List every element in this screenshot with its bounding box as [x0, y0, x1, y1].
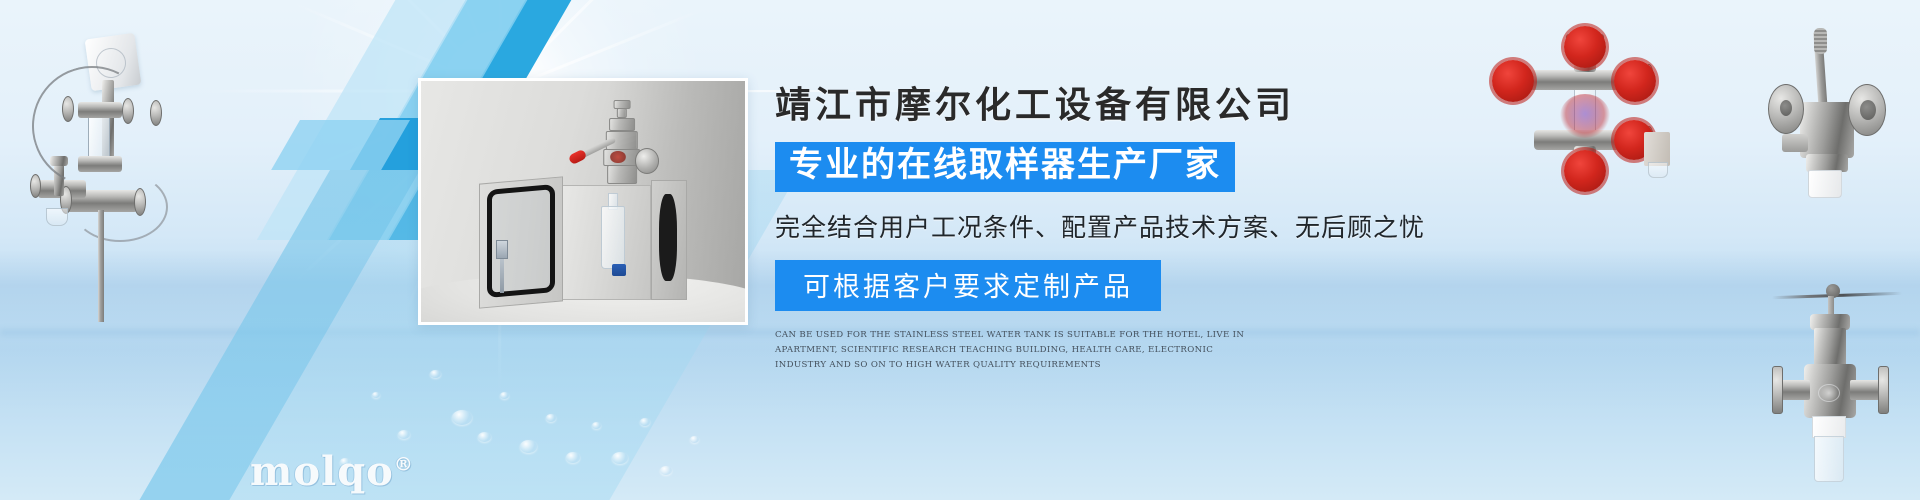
cta-badge[interactable]: 可根据客户要求定制产品	[775, 260, 1161, 311]
company-name: 靖江市摩尔化工设备有限公司	[775, 76, 1415, 128]
sample-bottle	[601, 206, 625, 269]
sub-headline: 完全结合用户工况条件、配置产品技术方案、无后顾之忧	[775, 208, 1415, 244]
water-droplet	[612, 452, 628, 464]
water-droplet	[398, 430, 410, 439]
photo-valve-assembly	[589, 100, 654, 187]
water-droplet	[478, 432, 491, 442]
water-droplet	[566, 452, 580, 463]
water-droplet	[690, 436, 699, 443]
promo-banner: 靖江市摩尔化工设备有限公司 专业的在线取样器生产厂家 完全结合用户工况条件、配置…	[0, 0, 1920, 500]
watermark-text: molqo	[250, 448, 394, 495]
brand-watermark: molqo®	[250, 448, 414, 495]
valve-handwheel-icon	[1564, 150, 1606, 192]
water-droplet	[660, 466, 672, 475]
center-product-photo	[418, 78, 748, 325]
valve-handwheel-icon	[1614, 120, 1654, 160]
valve-handwheel-icon	[1564, 26, 1606, 68]
water-droplet	[640, 418, 650, 426]
cabinet-key-icon	[500, 259, 504, 293]
right-top-product-image	[1486, 32, 1686, 182]
water-droplet	[546, 414, 556, 422]
right-upper-product-image	[1760, 26, 1910, 226]
valve-handwheel-icon	[1492, 60, 1534, 102]
water-droplet	[452, 410, 472, 425]
banner-text-block: 靖江市摩尔化工设备有限公司 专业的在线取样器生产厂家 完全结合用户工况条件、配置…	[775, 76, 1415, 373]
english-description: CAN BE USED FOR THE STAINLESS STEEL WATE…	[775, 328, 1245, 373]
registered-trademark-icon: ®	[394, 454, 414, 476]
water-droplet	[520, 440, 537, 453]
cabinet-lock-icon	[496, 240, 509, 259]
valve-handwheel-icon	[1614, 60, 1656, 102]
diagonal-stripe-accent-2	[271, 120, 410, 170]
water-droplet	[592, 422, 601, 429]
brand-seal-icon	[1560, 94, 1610, 138]
brand-seal-icon	[610, 151, 626, 163]
headline-badge: 专业的在线取样器生产厂家	[775, 142, 1235, 192]
